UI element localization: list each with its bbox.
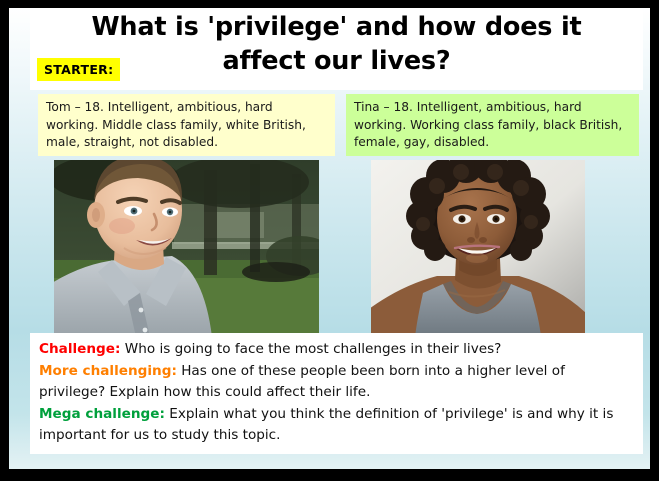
challenge-label-1: Challenge: bbox=[39, 341, 120, 357]
challenge-panel: Challenge: Who is going to face the most… bbox=[30, 333, 643, 454]
starter-badge: STARTER: bbox=[37, 58, 120, 81]
profile-text-tina: Tina – 18. Intelligent, ambitious, hard … bbox=[354, 100, 622, 149]
photo-tina-illustration bbox=[371, 160, 585, 337]
challenge-label-2: More challenging: bbox=[39, 363, 177, 379]
profile-text-tom: Tom – 18. Intelligent, ambitious, hard w… bbox=[46, 100, 306, 149]
photo-tina bbox=[371, 160, 585, 337]
page-title-line-2: affect our lives? bbox=[30, 44, 643, 78]
page-title: What is 'privilege' and how does it affe… bbox=[30, 10, 643, 78]
challenge-text-1: Who is going to face the most challenges… bbox=[120, 341, 501, 357]
page-title-line-1: What is 'privilege' and how does it bbox=[30, 10, 643, 44]
challenge-line-1: Challenge: Who is going to face the most… bbox=[39, 339, 634, 361]
photo-tom bbox=[54, 160, 319, 337]
photo-tom-illustration bbox=[54, 160, 319, 337]
challenge-line-3: Mega challenge: Explain what you think t… bbox=[39, 404, 634, 447]
challenge-label-3: Mega challenge: bbox=[39, 406, 165, 422]
slide-frame: What is 'privilege' and how does it affe… bbox=[0, 0, 659, 481]
slide-canvas: What is 'privilege' and how does it affe… bbox=[9, 8, 650, 469]
title-banner: What is 'privilege' and how does it affe… bbox=[30, 8, 643, 90]
profile-card-tina: Tina – 18. Intelligent, ambitious, hard … bbox=[346, 94, 639, 156]
profile-card-tom: Tom – 18. Intelligent, ambitious, hard w… bbox=[38, 94, 335, 156]
challenge-line-2: More challenging: Has one of these peopl… bbox=[39, 361, 634, 404]
